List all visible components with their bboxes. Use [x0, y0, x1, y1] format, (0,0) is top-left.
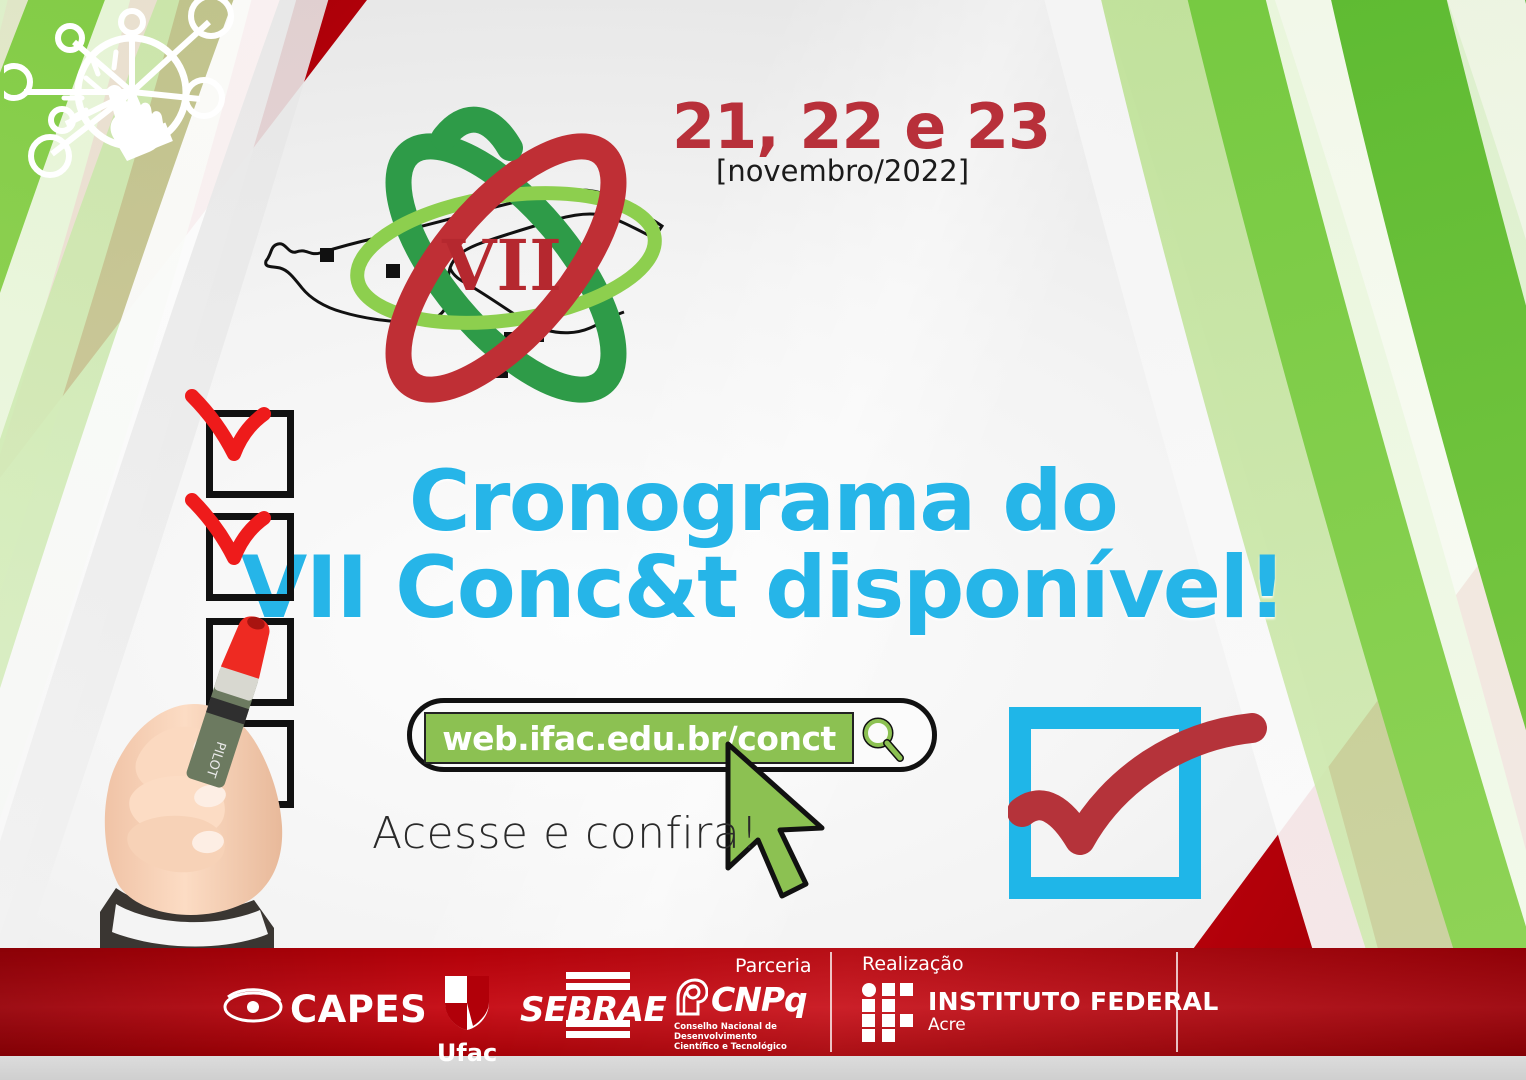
logo-instituto-federal[interactable]: INSTITUTO FEDERAL Acre	[862, 983, 1219, 1041]
capes-label: CAPES	[290, 988, 427, 1031]
headline-line-1: Cronograma do	[409, 452, 1117, 550]
host-label: Realização	[862, 953, 964, 975]
logo-ufac[interactable]: Ufac	[428, 972, 506, 1067]
search-bar[interactable]: web.ifac.edu.br/conct	[407, 698, 937, 772]
sebrae-label: SEBRAE	[520, 990, 660, 1030]
instituto-federal-name: INSTITUTO FEDERAL	[928, 989, 1219, 1015]
ufac-shield-icon	[439, 1019, 495, 1036]
instituto-federal-campus: Acre	[928, 1017, 1219, 1035]
partner-label: Parceria	[735, 955, 812, 977]
capes-eye-icon	[222, 985, 284, 1034]
checkbox-checked-icon	[1008, 700, 1278, 900]
cnpq-subtitle-line-1: Conselho Nacional de Desenvolvimento	[674, 1022, 824, 1042]
event-date-block: 21, 22 e 23 [novembro/2022]	[672, 96, 1052, 186]
cta-text: Acesse e confira!	[372, 808, 758, 859]
magnifier-icon[interactable]	[858, 715, 906, 763]
cnpq-head-icon	[674, 978, 708, 1021]
event-logo: VII	[258, 78, 688, 438]
footer-divider-1	[830, 952, 832, 1052]
cnpq-label: CNPq	[711, 980, 807, 1019]
logo-cnpq[interactable]: CNPq Conselho Nacional de Desenvolviment…	[674, 978, 824, 1052]
instituto-federal-grid-icon	[862, 983, 916, 1041]
cnpq-subtitle-line-2: Científico e Tecnológico	[674, 1042, 824, 1052]
poster-canvas: VII 21, 22 e 23 [novembro/2022] Cronogra…	[0, 0, 1526, 1080]
ufac-label: Ufac	[428, 1039, 506, 1067]
red-check-icon-1	[184, 388, 279, 483]
red-check-icon-2	[184, 492, 279, 587]
hand-with-marker-icon: PILOT	[78, 612, 323, 957]
network-click-hand-icon	[4, 0, 234, 209]
event-date: 21, 22 e 23	[672, 96, 1052, 158]
logo-sebrae[interactable]: SEBRAE	[520, 972, 660, 1038]
edition-roman-numeral: VII	[441, 224, 562, 307]
logo-capes[interactable]: CAPES	[222, 985, 427, 1033]
footer-bottom-strip	[0, 1056, 1526, 1080]
